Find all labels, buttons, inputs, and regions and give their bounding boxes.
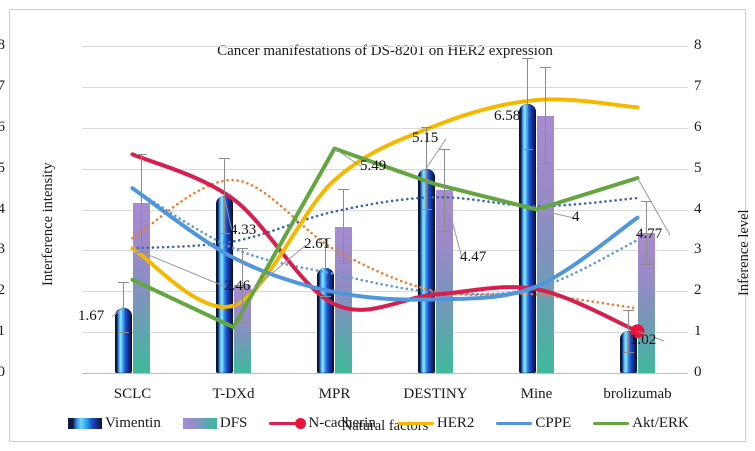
y-tick-right-0: 0 — [694, 365, 714, 380]
error-bar-vimentin-sclc — [123, 282, 124, 333]
data-label-vimentin-mine: 6.58 — [494, 108, 520, 125]
y-tick-right-6: 6 — [694, 120, 714, 135]
y-tick-left-4: 4 — [0, 202, 5, 217]
series-lines-layer — [82, 46, 688, 373]
chart-screenshot: Cancer manifestations of DS-8201 on HER2… — [0, 0, 755, 451]
x-tick-mpr: MPR — [284, 386, 385, 403]
legend-label: CPPE — [535, 415, 571, 432]
data-label-akt-erk-brolizumab: 4.77 — [636, 226, 662, 243]
error-bar-dfs-mine — [545, 67, 546, 163]
y-tick-right-2: 2 — [694, 283, 714, 298]
line-cppe — [133, 188, 638, 299]
y-axis-right-title: Inference level — [736, 209, 753, 296]
data-label-vimentin-destiny: 5.15 — [412, 130, 438, 147]
plot-area: Cancer manifestations of DS-8201 on HER2… — [82, 46, 688, 373]
legend-swatch-cppe — [496, 417, 532, 429]
y-tick-left-2: 2 — [0, 283, 5, 298]
legend-item-akt-erk[interactable]: Akt/ERK — [593, 415, 689, 432]
data-label-akt-erk-mpr: 5.49 — [360, 158, 386, 175]
data-label-n-cadherin-brolizumab: 1.02 — [630, 332, 656, 349]
y-tick-left-5: 5 — [0, 161, 5, 176]
y-axis-left-title: Interference intensity — [40, 162, 57, 286]
data-label-her2-sclc: 2.46 — [224, 278, 250, 295]
y-tick-left-1: 1 — [0, 324, 5, 339]
y-tick-right-3: 3 — [694, 242, 714, 257]
data-label-vimentin-sclc: 1.67 — [78, 308, 104, 325]
data-label-akt-erk-mine: 4 — [572, 209, 580, 226]
y-tick-left-6: 6 — [0, 120, 5, 135]
legend-item-her2[interactable]: HER2 — [398, 415, 475, 432]
y-tick-right-4: 4 — [694, 202, 714, 217]
legend-item-vimentin[interactable]: Vimentin — [68, 415, 161, 432]
legend-swatch-dfs — [183, 418, 217, 429]
gridline-0 — [82, 373, 688, 374]
data-label-dfs-destiny: 4.47 — [460, 249, 486, 266]
x-tick-destiny: DESTINY — [385, 386, 486, 403]
legend-item-cppe[interactable]: CPPE — [496, 415, 571, 432]
chart-legend: VimentinDFSN-cadherinHER2CPPEAkt/ERK — [20, 406, 737, 440]
y-tick-left-8: 8 — [0, 38, 5, 53]
data-label-her2-t-dxd: 2.61 — [304, 236, 330, 253]
y-tick-right-1: 1 — [694, 324, 714, 339]
x-tick-t-dxd: T-DXd — [183, 386, 284, 403]
legend-swatch-n-cadherin — [269, 417, 305, 429]
leader-line — [133, 248, 227, 287]
error-bar-dfs-sclc — [141, 154, 142, 254]
leader-line — [234, 245, 307, 306]
legend-item-dfs[interactable]: DFS — [183, 415, 248, 432]
y-tick-left-7: 7 — [0, 79, 5, 94]
leader-line — [537, 210, 575, 219]
legend-label: HER2 — [437, 415, 475, 432]
x-tick-mine: Mine — [486, 386, 587, 403]
y-tick-right-8: 8 — [694, 38, 714, 53]
chart-frame: Cancer manifestations of DS-8201 on HER2… — [9, 9, 746, 442]
legend-swatch-her2 — [398, 417, 434, 429]
error-bar-vimentin-brolizumab — [628, 310, 629, 353]
x-tick-sclc: SCLC — [82, 386, 183, 403]
legend-swatch-vimentin — [68, 418, 102, 429]
y-tick-right-7: 7 — [694, 79, 714, 94]
error-bar-vimentin-mine — [527, 58, 528, 150]
legend-item-n-cadherin[interactable]: N-cadherin — [269, 415, 375, 432]
y-tick-left-0: 0 — [0, 365, 5, 380]
leader-line — [112, 308, 123, 317]
legend-swatch-akt-erk — [593, 417, 629, 429]
data-label-vimentin-t-dxd: 4.33 — [230, 222, 256, 239]
x-tick-brolizumab: brolizumab — [587, 386, 688, 403]
y-tick-right-5: 5 — [694, 161, 714, 176]
error-bar-dfs-mpr — [343, 189, 344, 264]
legend-label: DFS — [220, 415, 248, 432]
y-tick-left-3: 3 — [0, 242, 5, 257]
legend-label: Vimentin — [105, 415, 161, 432]
legend-label: N-cadherin — [308, 415, 375, 432]
error-bar-dfs-destiny — [444, 149, 445, 232]
leader-line — [444, 190, 462, 258]
legend-label: Akt/ERK — [632, 415, 689, 432]
error-bar-vimentin-t-dxd — [224, 158, 225, 233]
